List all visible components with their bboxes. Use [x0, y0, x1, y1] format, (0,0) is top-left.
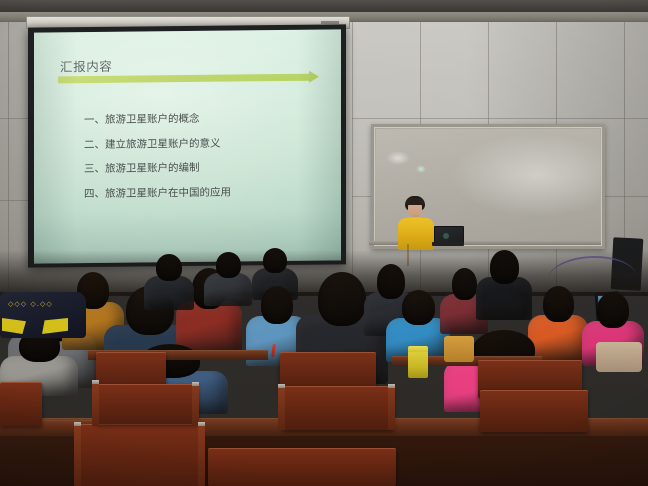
chair-post-cap [74, 422, 81, 426]
attendee-head [261, 286, 293, 324]
handbag-orange [444, 336, 474, 362]
attendee-head [216, 252, 241, 278]
attendee-head [263, 248, 287, 273]
chair-post [192, 384, 199, 426]
attendee-head [490, 250, 519, 284]
attendee-head [402, 290, 435, 325]
handbag-beige [596, 342, 642, 372]
attendee-head [543, 286, 574, 322]
thermos-lid [408, 346, 428, 352]
chair-post [388, 386, 395, 430]
presenter-yellow-jacket [398, 218, 434, 250]
bag-yellow-panel [2, 318, 26, 334]
laptop [432, 226, 464, 246]
chair-back-front [96, 384, 198, 424]
chair-back-front [208, 448, 396, 486]
presenter-fringe [406, 198, 424, 205]
chair-post [198, 424, 205, 486]
attendee-head [452, 268, 477, 300]
projection-screen: 汇报内容 一、旅游卫星账户的概念 二、建立旅游卫星账户的意义 三、旅游卫星账户的… [28, 24, 346, 267]
chair-post-cap [192, 382, 199, 386]
attendee-6 [204, 252, 252, 306]
chair-post-cap [388, 384, 395, 388]
laptop-base [432, 242, 464, 246]
attendee-head [597, 292, 629, 328]
slide-bullet-1: 一、旅游卫星账户的概念 [84, 113, 324, 126]
yellow-thermos [408, 350, 428, 378]
attendee-13 [476, 250, 532, 320]
attendee-torso [144, 276, 194, 310]
attendee-head [156, 254, 182, 281]
projection-screen-surface: 汇报内容 一、旅游卫星账户的概念 二、建立旅游卫星账户的意义 三、旅游卫星账户的… [34, 29, 341, 263]
attendee-5 [144, 254, 194, 310]
slide-title-arrow [58, 74, 310, 84]
chair-back-front [78, 424, 202, 486]
chair-post [74, 424, 81, 486]
slide-title: 汇报内容 [60, 56, 112, 76]
slide-bullet-4: 四、旅游卫星账户在中国的应用 [84, 186, 324, 199]
whiteboard-glare [386, 151, 410, 165]
chair-post-cap [278, 384, 285, 388]
chair-post-cap [198, 422, 205, 426]
bag-yellow-panel [42, 318, 68, 334]
slide-bullet-list: 一、旅游卫星账户的概念 二、建立旅游卫星账户的意义 三、旅游卫星账户的编制 四、… [84, 113, 324, 214]
slide-bullet-2: 二、建立旅游卫星账户的意义 [84, 137, 324, 150]
chair-post [278, 386, 285, 430]
chair-back-front [0, 382, 42, 426]
navy-bag: ◇◇◇ ◇.◇◇ [0, 292, 86, 338]
chair-post [92, 382, 99, 426]
whiteboard-glare-spot [416, 165, 426, 173]
lecture-hall-photo: 汇报内容 一、旅游卫星账户的概念 二、建立旅游卫星账户的意义 三、旅游卫星账户的… [0, 0, 648, 486]
chair-post-cap [92, 380, 99, 384]
attendee-head [318, 272, 366, 326]
laptop-logo [443, 233, 449, 239]
slide-bullet-3: 三、旅游卫星账户的编制 [84, 162, 324, 175]
bag-logo-text: ◇◇◇ ◇.◇◇ [8, 300, 53, 308]
chair-back-front [282, 386, 394, 430]
chair-back-front [480, 390, 588, 432]
